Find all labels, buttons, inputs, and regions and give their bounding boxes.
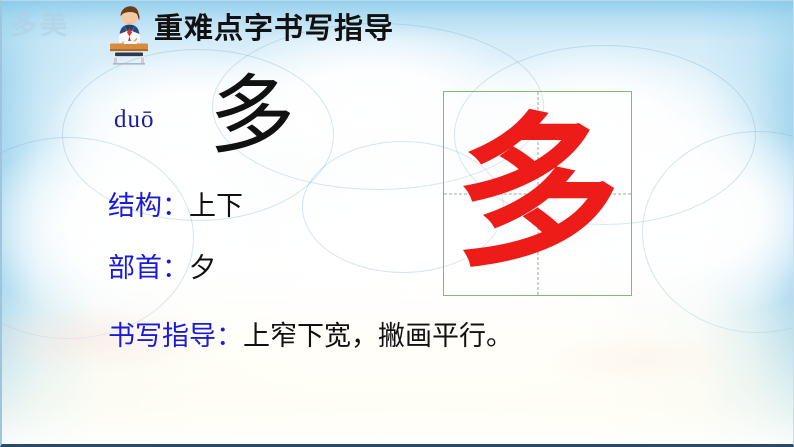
slide-header: 重难点字书写指导: [106, 3, 394, 65]
sample-character: 多: [209, 73, 295, 159]
tianzige-practice-box: 多: [443, 91, 632, 296]
radical-label: 部首：: [108, 253, 189, 284]
info-row-structure: 结构：上下: [108, 193, 243, 220]
radical-value: 夕: [189, 253, 216, 284]
grid-character: 多: [444, 111, 631, 276]
watermark-text: 多美: [10, 3, 70, 42]
warm-color-wash: [2, 301, 793, 421]
info-row-radical: 部首：夕: [108, 255, 216, 282]
slide-canvas: 多美: [0, 0, 794, 447]
student-writing-at-desk-icon: [106, 3, 152, 65]
info-row-writing-guide: 书写指导：上窄下宽，撇画平行。: [108, 323, 513, 350]
writing-guide-label: 书写指导：: [108, 321, 243, 352]
structure-label: 结构：: [108, 191, 189, 222]
page-title: 重难点字书写指导: [154, 14, 394, 43]
pinyin-label: duō: [114, 106, 155, 134]
structure-value: 上下: [189, 191, 243, 222]
writing-guide-value: 上窄下宽，撇画平行。: [243, 321, 513, 352]
